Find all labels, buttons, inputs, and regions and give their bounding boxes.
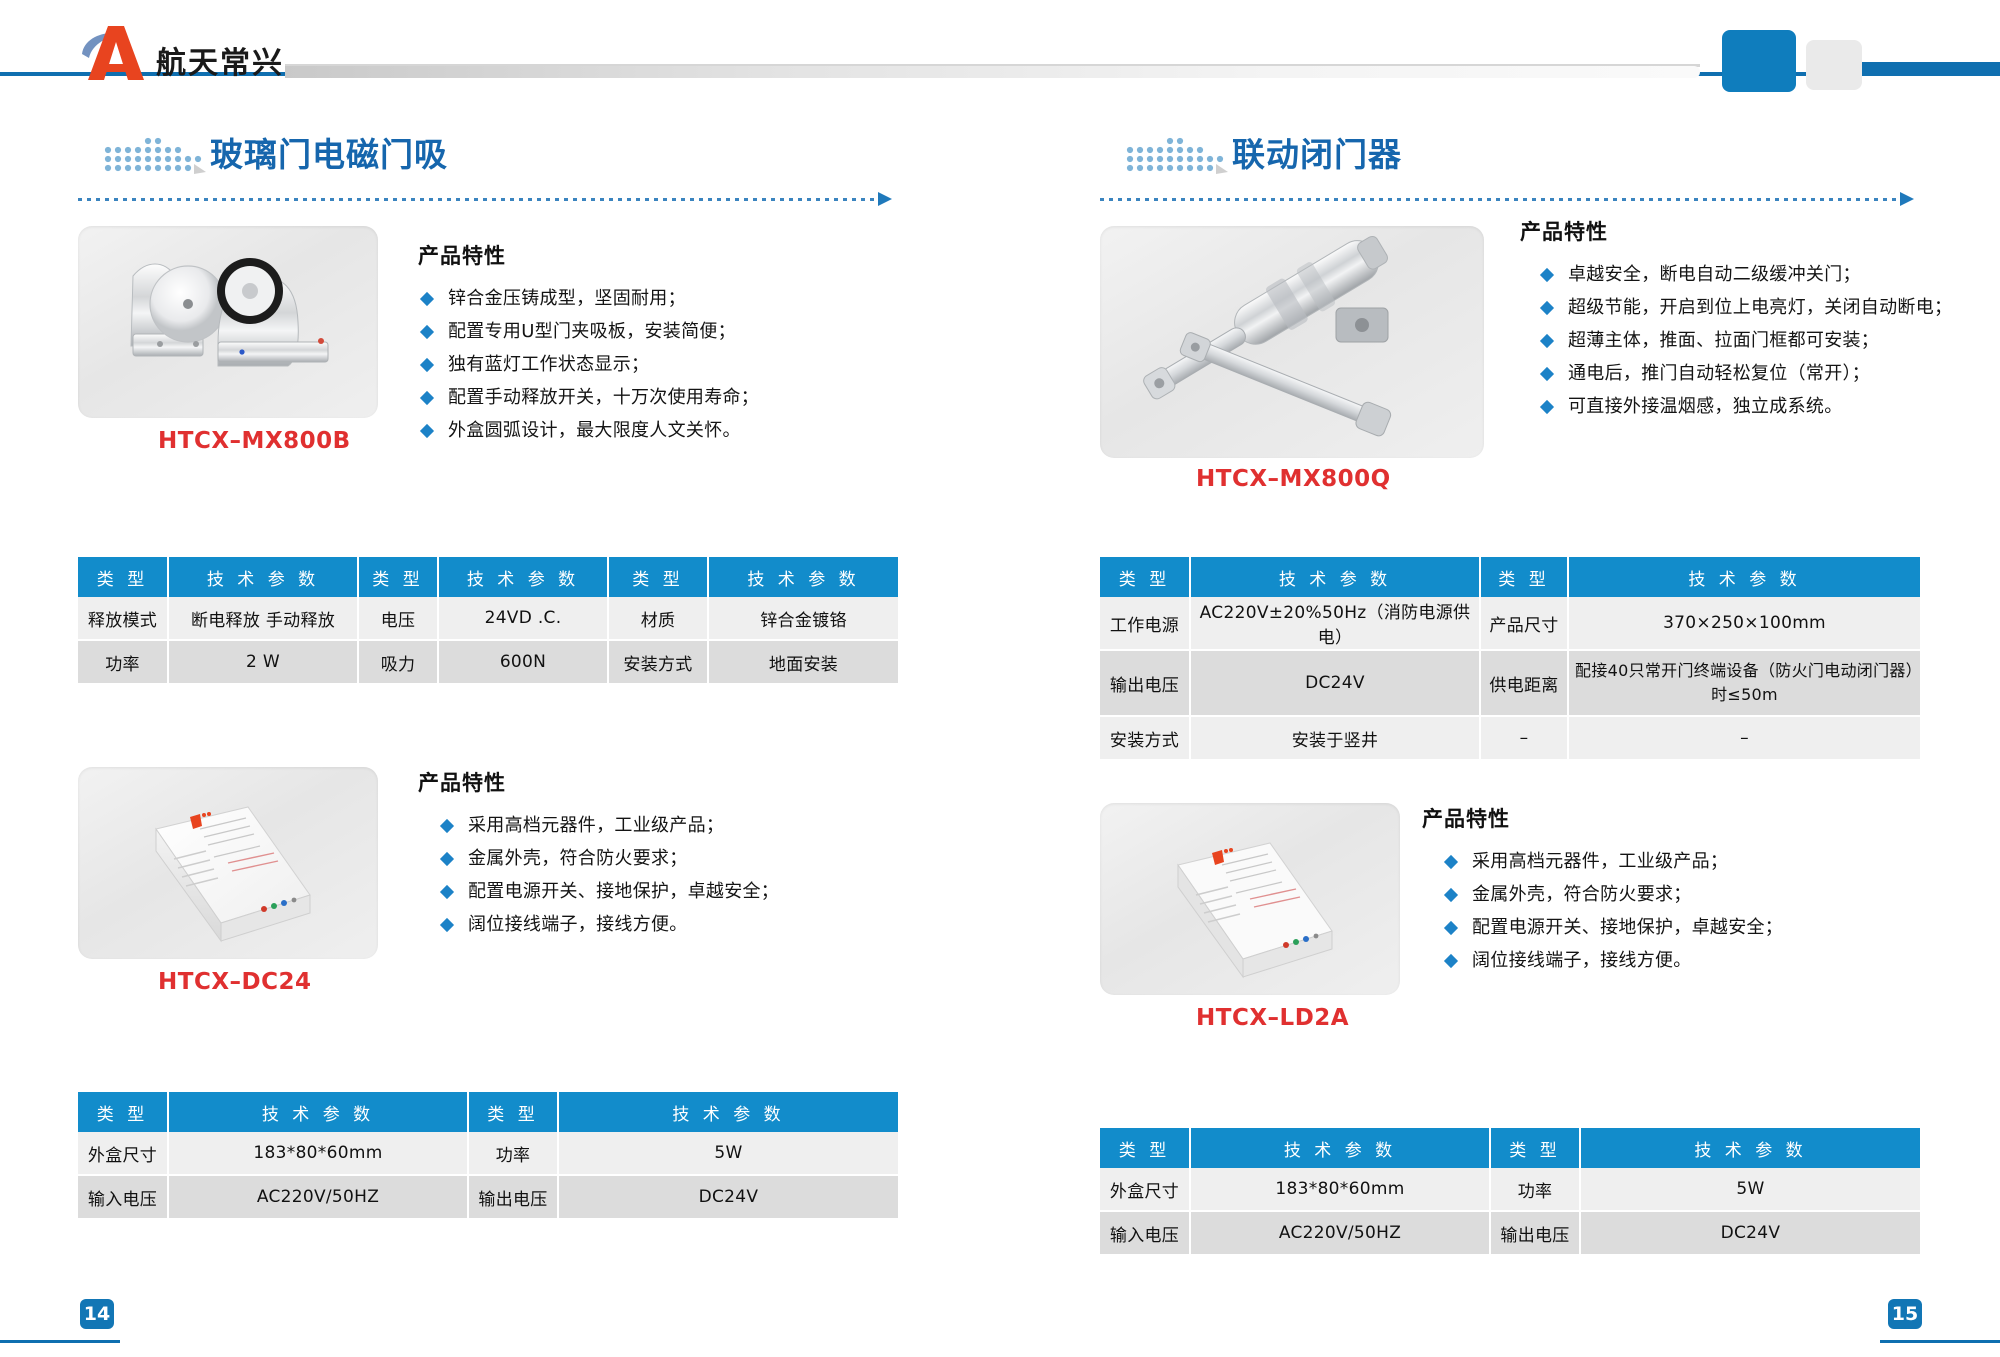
diamond-bullet-icon <box>420 391 434 405</box>
table-cell: AC220V±20%50Hz（消防电源供电） <box>1190 597 1480 650</box>
product-card: HTCX–LD2A 产品特性 采用高档元器件，工业级产品； 金属外壳，符合防火要… <box>1100 803 1960 1053</box>
diamond-bullet-icon <box>1540 400 1554 414</box>
divider-arrow-icon <box>878 192 892 206</box>
table-cell: 断电释放 手动释放 <box>168 597 358 640</box>
spec-table: 类 型 技 术 参 数 类 型 技 术 参 数 外盒尺寸 183*80*60mm… <box>78 1092 898 1220</box>
divider-arrow-icon <box>1900 192 1914 206</box>
table-cell: 安装方式 <box>608 640 708 684</box>
corner-square-blue <box>1722 30 1796 92</box>
door-closer-photo-icon <box>1100 226 1484 458</box>
features-title: 产品特性 <box>418 240 938 270</box>
list-item: 超级节能，开启到位上电亮灯，关闭自动断电； <box>1538 293 1960 322</box>
diamond-bullet-icon <box>440 819 454 833</box>
column-header: 类 型 <box>1480 557 1568 597</box>
table-header-row: 类 型 技 术 参 数 类 型 技 术 参 数 <box>1100 1128 1920 1168</box>
list-item: 卓越安全，断电自动二级缓冲关门； <box>1538 260 1960 289</box>
product-image <box>1100 226 1484 458</box>
table-cell: 地面安装 <box>708 640 898 684</box>
product-card: HTCX–MX800B 产品特性 锌合金压铸成型，坚固耐用； 配置专用U型门夹吸… <box>78 226 938 471</box>
table-cell: AC220V/50HZ <box>1190 1211 1490 1255</box>
table-cell: – <box>1568 716 1920 760</box>
diamond-bullet-icon <box>1444 921 1458 935</box>
power-supply-box-photo-icon <box>1100 803 1400 995</box>
spec-table: 类 型 技 术 参 数 类 型 技 术 参 数 类 型 技 术 参 数 释放模式… <box>78 557 898 685</box>
table-cell: 5W <box>558 1132 898 1175</box>
table-cell: 功率 <box>1490 1168 1580 1211</box>
features-title: 产品特性 <box>1520 216 1960 246</box>
product-features: 产品特性 采用高档元器件，工业级产品； 金属外壳，符合防火要求； 配置电源开关、… <box>418 767 938 943</box>
section-divider <box>1100 190 1960 210</box>
table-cell: 供电距离 <box>1480 650 1568 716</box>
table-cell: DC24V <box>1580 1211 1920 1255</box>
column-header: 技 术 参 数 <box>1190 557 1480 597</box>
dot-grid-arrow-icon <box>102 134 212 176</box>
list-item: 可直接外接温烟感，独立成系统。 <box>1538 392 1960 421</box>
list-item: 采用高档元器件，工业级产品； <box>1442 847 1942 876</box>
page-header: 航天常兴 <box>0 0 2000 100</box>
right-column: 联动闭门器 <box>1100 120 1960 1256</box>
column-header: 技 术 参 数 <box>168 1092 468 1132</box>
column-header: 类 型 <box>78 557 168 597</box>
list-item: 超薄主体，推面、拉面门框都可安装； <box>1538 326 1960 355</box>
table-cell: 配接40只常开门终端设备（防火门电动闭门器）时≤50m <box>1568 650 1920 716</box>
diamond-bullet-icon <box>1540 334 1554 348</box>
list-item: 锌合金压铸成型，坚固耐用； <box>418 284 938 313</box>
footer-rule-right <box>1880 1340 2000 1343</box>
page-number-right: 15 <box>1888 1299 1922 1329</box>
table-cell: 材质 <box>608 597 708 640</box>
list-item: 配置专用U型门夹吸板，安装简便； <box>418 317 938 346</box>
section-title: 玻璃门电磁门吸 <box>210 128 448 176</box>
diamond-bullet-icon <box>1540 367 1554 381</box>
list-item: 金属外壳，符合防火要求； <box>438 844 938 873</box>
column-header: 类 型 <box>468 1092 558 1132</box>
table-cell: – <box>1480 716 1568 760</box>
table-cell: 2 W <box>168 640 358 684</box>
product-image <box>78 226 378 418</box>
table-cell: 输出电压 <box>1100 650 1190 716</box>
table-cell: DC24V <box>558 1175 898 1219</box>
product-model: HTCX–MX800B <box>158 428 351 454</box>
product-features: 产品特性 锌合金压铸成型，坚固耐用； 配置专用U型门夹吸板，安装简便； 独有蓝灯… <box>418 240 938 449</box>
column-header: 技 术 参 数 <box>168 557 358 597</box>
column-header: 技 术 参 数 <box>558 1092 898 1132</box>
table-cell: 功率 <box>468 1132 558 1175</box>
table-cell: 外盒尺寸 <box>78 1132 168 1175</box>
table-row: 输入电压 AC220V/50HZ 输出电压 DC24V <box>1100 1211 1920 1255</box>
section-title: 联动闭门器 <box>1232 128 1402 176</box>
table-cell: 输入电压 <box>78 1175 168 1219</box>
diamond-bullet-icon <box>440 885 454 899</box>
catalog-page: 航天常兴 玻璃门电磁门吸 <box>0 0 2000 1357</box>
product-model: HTCX–DC24 <box>158 969 312 995</box>
table-row: 功率 2 W 吸力 600N 安装方式 地面安装 <box>78 640 898 684</box>
product-features: 产品特性 采用高档元器件，工业级产品； 金属外壳，符合防火要求； 配置电源开关、… <box>1422 803 1942 979</box>
table-cell: 输出电压 <box>1490 1211 1580 1255</box>
spec-table-wrapper: 类 型 技 术 参 数 类 型 技 术 参 数 类 型 技 术 参 数 释放模式… <box>78 557 938 685</box>
divider-dots <box>78 198 878 201</box>
product-model: HTCX–MX800Q <box>1196 466 1391 492</box>
table-cell: 锌合金镀铬 <box>708 597 898 640</box>
section-header-left: 玻璃门电磁门吸 <box>78 120 938 186</box>
diamond-bullet-icon <box>1540 301 1554 315</box>
product-card: HTCX–MX800Q 产品特性 卓越安全，断电自动二级缓冲关门； 超级节能，开… <box>1100 226 1960 471</box>
table-cell: 600N <box>438 640 608 684</box>
table-cell: 产品尺寸 <box>1480 597 1568 650</box>
corner-square-gray <box>1806 40 1862 90</box>
table-cell: 24VD .C. <box>438 597 608 640</box>
dot-grid-arrow-icon <box>1124 134 1234 176</box>
features-list: 采用高档元器件，工业级产品； 金属外壳，符合防火要求； 配置电源开关、接地保护，… <box>1442 847 1942 975</box>
spec-table: 类 型 技 术 参 数 类 型 技 术 参 数 外盒尺寸 183*80*60mm… <box>1100 1128 1920 1256</box>
list-item: 阔位接线端子，接线方便。 <box>438 910 938 939</box>
list-item: 阔位接线端子，接线方便。 <box>1442 946 1942 975</box>
table-cell: 功率 <box>78 640 168 684</box>
features-title: 产品特性 <box>1422 803 1942 833</box>
features-title: 产品特性 <box>418 767 938 797</box>
table-row: 工作电源 AC220V±20%50Hz（消防电源供电） 产品尺寸 370×250… <box>1100 597 1920 650</box>
list-item: 配置电源开关、接地保护，卓越安全； <box>1442 913 1942 942</box>
list-item: 独有蓝灯工作状态显示； <box>418 350 938 379</box>
table-row: 外盒尺寸 183*80*60mm 功率 5W <box>1100 1168 1920 1211</box>
diamond-bullet-icon <box>420 292 434 306</box>
features-list: 卓越安全，断电自动二级缓冲关门； 超级节能，开启到位上电亮灯，关闭自动断电； 超… <box>1538 260 1960 421</box>
header-gradient-bar <box>285 66 1700 78</box>
table-row: 输出电压 DC24V 供电距离 配接40只常开门终端设备（防火门电动闭门器）时≤… <box>1100 650 1920 716</box>
column-header: 技 术 参 数 <box>708 557 898 597</box>
diamond-bullet-icon <box>1444 954 1458 968</box>
table-cell: 安装于竖井 <box>1190 716 1480 760</box>
spec-table-wrapper: 类 型 技 术 参 数 类 型 技 术 参 数 外盒尺寸 183*80*60mm… <box>78 1092 938 1220</box>
column-header: 类 型 <box>1490 1128 1580 1168</box>
list-item: 通电后，推门自动轻松复位（常开）； <box>1538 359 1960 388</box>
table-cell: 183*80*60mm <box>168 1132 468 1175</box>
diamond-bullet-icon <box>420 424 434 438</box>
diamond-bullet-icon <box>420 325 434 339</box>
column-header: 类 型 <box>358 557 438 597</box>
list-item: 采用高档元器件，工业级产品； <box>438 811 938 840</box>
table-header-row: 类 型 技 术 参 数 类 型 技 术 参 数 <box>1100 557 1920 597</box>
table-row: 外盒尺寸 183*80*60mm 功率 5W <box>78 1132 898 1175</box>
product-features: 产品特性 卓越安全，断电自动二级缓冲关门； 超级节能，开启到位上电亮灯，关闭自动… <box>1520 216 1960 425</box>
diamond-bullet-icon <box>1540 268 1554 282</box>
spec-table-wrapper: 类 型 技 术 参 数 类 型 技 术 参 数 外盒尺寸 183*80*60mm… <box>1100 1128 1960 1256</box>
column-header: 类 型 <box>608 557 708 597</box>
table-cell: 释放模式 <box>78 597 168 640</box>
table-cell: DC24V <box>1190 650 1480 716</box>
brand-logo: 航天常兴 <box>78 22 368 88</box>
diamond-bullet-icon <box>420 358 434 372</box>
section-header-right: 联动闭门器 <box>1100 120 1960 186</box>
table-cell: 5W <box>1580 1168 1920 1211</box>
column-header: 类 型 <box>78 1092 168 1132</box>
table-cell: 183*80*60mm <box>1190 1168 1490 1211</box>
column-header: 技 术 参 数 <box>1580 1128 1920 1168</box>
product-model: HTCX–LD2A <box>1196 1005 1349 1031</box>
product-image <box>1100 803 1400 995</box>
diamond-bullet-icon <box>1444 855 1458 869</box>
diamond-bullet-icon <box>440 918 454 932</box>
list-item: 配置电源开关、接地保护，卓越安全； <box>438 877 938 906</box>
table-cell: 吸力 <box>358 640 438 684</box>
product-card: HTCX–DC24 产品特性 采用高档元器件，工业级产品； 金属外壳，符合防火要… <box>78 767 938 1017</box>
product-image <box>78 767 378 959</box>
column-header: 类 型 <box>1100 1128 1190 1168</box>
spec-table-wrapper: 类 型 技 术 参 数 类 型 技 术 参 数 工作电源 AC220V±20%5… <box>1100 557 1960 761</box>
column-header: 技 术 参 数 <box>438 557 608 597</box>
diamond-bullet-icon <box>440 852 454 866</box>
features-list: 采用高档元器件，工业级产品； 金属外壳，符合防火要求； 配置电源开关、接地保护，… <box>438 811 938 939</box>
spec-table: 类 型 技 术 参 数 类 型 技 术 参 数 工作电源 AC220V±20%5… <box>1100 557 1920 761</box>
table-header-row: 类 型 技 术 参 数 类 型 技 术 参 数 <box>78 1092 898 1132</box>
features-list: 锌合金压铸成型，坚固耐用； 配置专用U型门夹吸板，安装简便； 独有蓝灯工作状态显… <box>418 284 938 445</box>
table-cell: 输入电压 <box>1100 1211 1190 1255</box>
table-cell: 外盒尺寸 <box>1100 1168 1190 1211</box>
table-cell: AC220V/50HZ <box>168 1175 468 1219</box>
table-row: 释放模式 断电释放 手动释放 电压 24VD .C. 材质 锌合金镀铬 <box>78 597 898 640</box>
power-supply-box-photo-icon <box>78 767 378 959</box>
left-column: 玻璃门电磁门吸 <box>78 120 938 1220</box>
list-item: 配置手动释放开关，十万次使用寿命； <box>418 383 938 412</box>
table-header-row: 类 型 技 术 参 数 类 型 技 术 参 数 类 型 技 术 参 数 <box>78 557 898 597</box>
table-cell: 安装方式 <box>1100 716 1190 760</box>
column-header: 类 型 <box>1100 557 1190 597</box>
column-header: 技 术 参 数 <box>1568 557 1920 597</box>
list-item: 外盒圆弧设计，最大限度人文关怀。 <box>418 416 938 445</box>
company-logo-a-swoosh-icon <box>78 24 154 84</box>
table-cell: 电压 <box>358 597 438 640</box>
electromagnetic-door-holder-photo-icon <box>78 226 378 418</box>
corner-blue-bar <box>1862 62 2000 75</box>
page-number-left: 14 <box>80 1299 114 1329</box>
table-row: 安装方式 安装于竖井 – – <box>1100 716 1920 760</box>
table-cell: 输出电压 <box>468 1175 558 1219</box>
table-row: 输入电压 AC220V/50HZ 输出电压 DC24V <box>78 1175 898 1219</box>
brand-name: 航天常兴 <box>156 38 284 82</box>
table-cell: 工作电源 <box>1100 597 1190 650</box>
diamond-bullet-icon <box>1444 888 1458 902</box>
table-cell: 370×250×100mm <box>1568 597 1920 650</box>
list-item: 金属外壳，符合防火要求； <box>1442 880 1942 909</box>
divider-dots <box>1100 198 1900 201</box>
footer-rule-left <box>0 1340 120 1343</box>
section-divider <box>78 190 938 210</box>
column-header: 技 术 参 数 <box>1190 1128 1490 1168</box>
